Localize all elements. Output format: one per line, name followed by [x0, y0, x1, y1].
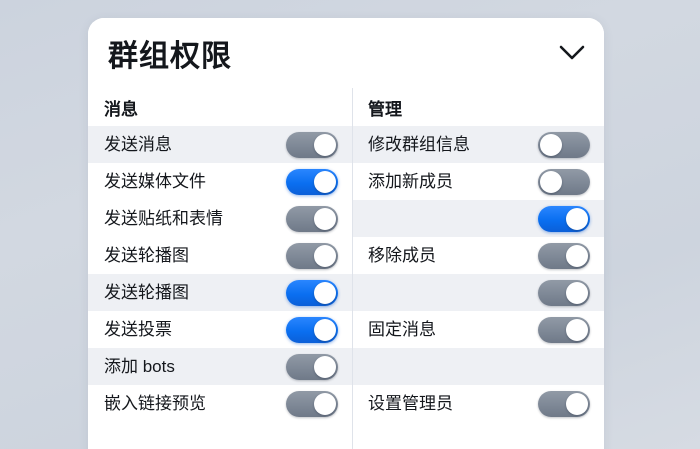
screenshot-stage: 群组权限 消息 发送消息发送媒体文件发送贴纸和表情发送轮播图发送轮播图发送投票添…: [0, 0, 700, 449]
toggle-knob: [540, 134, 562, 156]
permission-toggle[interactable]: [286, 132, 338, 158]
permission-row[interactable]: [352, 348, 604, 385]
permission-row[interactable]: 发送媒体文件: [88, 163, 352, 200]
toggle-knob: [566, 393, 588, 415]
permission-label: 修改群组信息: [368, 136, 538, 153]
permission-toggle[interactable]: [538, 132, 590, 158]
chevron-down-icon: [559, 45, 585, 61]
permission-row[interactable]: 固定消息: [352, 311, 604, 348]
permission-row[interactable]: 添加 bots: [88, 348, 352, 385]
permission-toggle[interactable]: [538, 391, 590, 417]
permission-row[interactable]: 设置管理员: [352, 385, 604, 422]
permission-label: 发送轮播图: [104, 284, 286, 301]
permission-toggle[interactable]: [538, 169, 590, 195]
permission-label: 发送媒体文件: [104, 173, 286, 190]
column-divider: [352, 88, 353, 449]
permission-row[interactable]: 发送消息: [88, 126, 352, 163]
permission-label: 发送投票: [104, 321, 286, 338]
permission-toggle[interactable]: [286, 317, 338, 343]
permission-row[interactable]: 添加新成员: [352, 163, 604, 200]
toggle-knob: [314, 208, 336, 230]
permission-toggle[interactable]: [538, 206, 590, 232]
permission-label: 移除成员: [368, 247, 538, 264]
column-messages: 消息 发送消息发送媒体文件发送贴纸和表情发送轮播图发送轮播图发送投票添加 bot…: [88, 88, 352, 449]
section-header-messages: 消息: [88, 88, 352, 126]
toggle-knob: [314, 282, 336, 304]
group-permissions-card: 群组权限 消息 发送消息发送媒体文件发送贴纸和表情发送轮播图发送轮播图发送投票添…: [88, 18, 604, 449]
permission-label: 嵌入链接预览: [104, 395, 286, 412]
section-title: 管理: [368, 95, 402, 120]
toggle-knob: [314, 393, 336, 415]
permission-row[interactable]: 发送贴纸和表情: [88, 200, 352, 237]
permission-row[interactable]: 修改群组信息: [352, 126, 604, 163]
permission-toggle[interactable]: [286, 169, 338, 195]
permission-row[interactable]: 发送轮播图: [88, 237, 352, 274]
column-management: 管理 修改群组信息添加新成员移除成员固定消息设置管理员: [352, 88, 604, 449]
permission-label: 发送轮播图: [104, 247, 286, 264]
card-header: 群组权限: [88, 18, 604, 88]
permission-row[interactable]: 嵌入链接预览: [88, 385, 352, 422]
permission-toggle[interactable]: [286, 280, 338, 306]
permissions-columns: 消息 发送消息发送媒体文件发送贴纸和表情发送轮播图发送轮播图发送投票添加 bot…: [88, 88, 604, 449]
permission-label: 添加 bots: [104, 358, 286, 375]
toggle-knob: [314, 134, 336, 156]
toggle-knob: [314, 356, 336, 378]
toggle-knob: [566, 208, 588, 230]
toggle-knob: [314, 171, 336, 193]
permission-label: 发送消息: [104, 136, 286, 153]
permission-toggle[interactable]: [538, 243, 590, 269]
permission-row[interactable]: 发送轮播图: [88, 274, 352, 311]
permission-toggle[interactable]: [538, 317, 590, 343]
permission-toggle[interactable]: [538, 280, 590, 306]
section-title: 消息: [104, 95, 138, 120]
permission-row[interactable]: [352, 200, 604, 237]
permission-row[interactable]: 移除成员: [352, 237, 604, 274]
permission-toggle[interactable]: [286, 391, 338, 417]
permission-toggle[interactable]: [286, 354, 338, 380]
toggle-knob: [314, 245, 336, 267]
toggle-knob: [540, 171, 562, 193]
toggle-knob: [566, 282, 588, 304]
permission-label: 固定消息: [368, 321, 538, 338]
permission-row[interactable]: 发送投票: [88, 311, 352, 348]
permission-label: 发送贴纸和表情: [104, 210, 286, 227]
toggle-knob: [566, 245, 588, 267]
toggle-knob: [314, 319, 336, 341]
section-header-management: 管理: [352, 88, 604, 126]
permission-toggle[interactable]: [286, 206, 338, 232]
page-title: 群组权限: [108, 31, 232, 75]
permission-row[interactable]: [352, 274, 604, 311]
toggle-knob: [566, 319, 588, 341]
collapse-toggle-button[interactable]: [550, 31, 594, 75]
permission-label: 添加新成员: [368, 173, 538, 190]
permission-toggle[interactable]: [286, 243, 338, 269]
permission-label: 设置管理员: [368, 395, 538, 412]
